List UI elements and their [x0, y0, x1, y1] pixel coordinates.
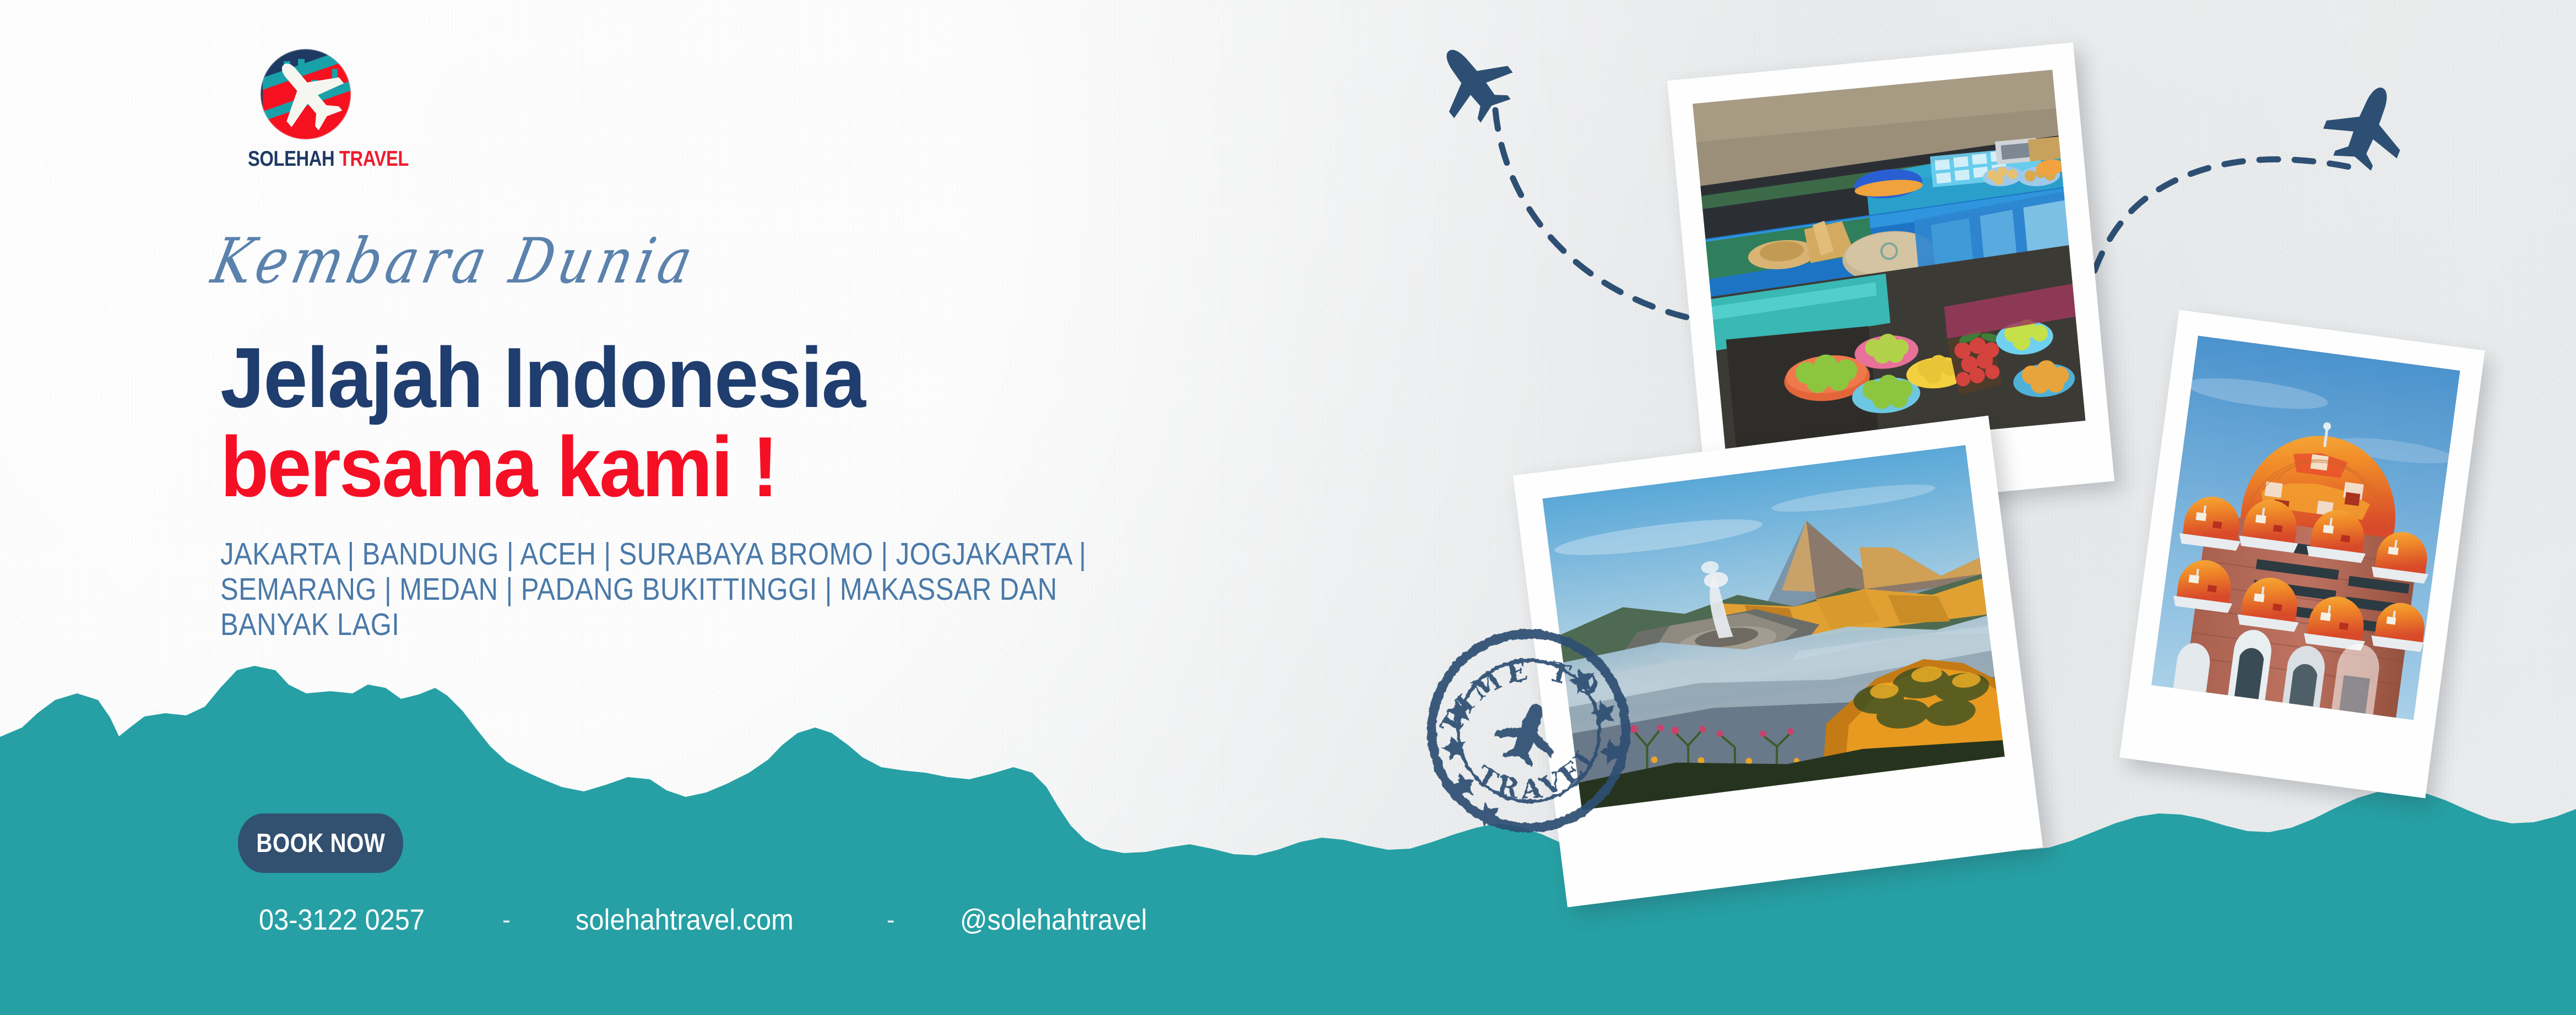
airplane-globe-icon [258, 47, 353, 142]
contact-bar: 03-3122 0257 - solehahtravel.com - @sole… [259, 903, 1163, 937]
contact-separator-1: - [502, 907, 511, 934]
destination-line-1: JAKARTA | BANDUNG | ACEH | SURABAYA BROM… [220, 537, 1191, 572]
brand-logo[interactable]: SOLEHAH TRAVEL [237, 47, 375, 171]
logo-badge [258, 47, 353, 142]
destination-list: JAKARTA | BANDUNG | ACEH | SURABAYA BROM… [220, 537, 1191, 642]
headline-line-2: bersama kami ! [220, 424, 777, 509]
travel-banner: SOLEHAH TRAVEL Kembara Dunia Jelajah Ind… [0, 0, 2576, 1015]
photo-card-mosque[interactable] [2119, 310, 2485, 799]
book-now-button[interactable]: BOOK NOW [238, 813, 403, 873]
book-now-label: BOOK NOW [256, 828, 385, 859]
logo-word-primary: SOLEHAH [248, 147, 334, 171]
photo-tiled-dome-mosque [2151, 335, 2460, 720]
website-link[interactable]: solehahtravel.com [576, 903, 794, 937]
phone-number[interactable]: 03-3122 0257 [259, 903, 425, 937]
social-handle[interactable]: @solehahtravel [960, 903, 1147, 937]
script-tagline: Kembara Dunia [206, 225, 703, 297]
contact-separator-2: - [887, 907, 895, 934]
logo-word-secondary: TRAVEL [339, 147, 409, 171]
headline-line-1: Jelajah Indonesia [220, 335, 865, 420]
photo-floating-market [1693, 70, 2085, 455]
destination-line-3: BANYAK LAGI [220, 607, 1191, 643]
destination-line-2: SEMARANG | MEDAN | PADANG BUKITTINGGI | … [220, 572, 1191, 607]
logo-wordmark: SOLEHAH TRAVEL [248, 147, 364, 171]
